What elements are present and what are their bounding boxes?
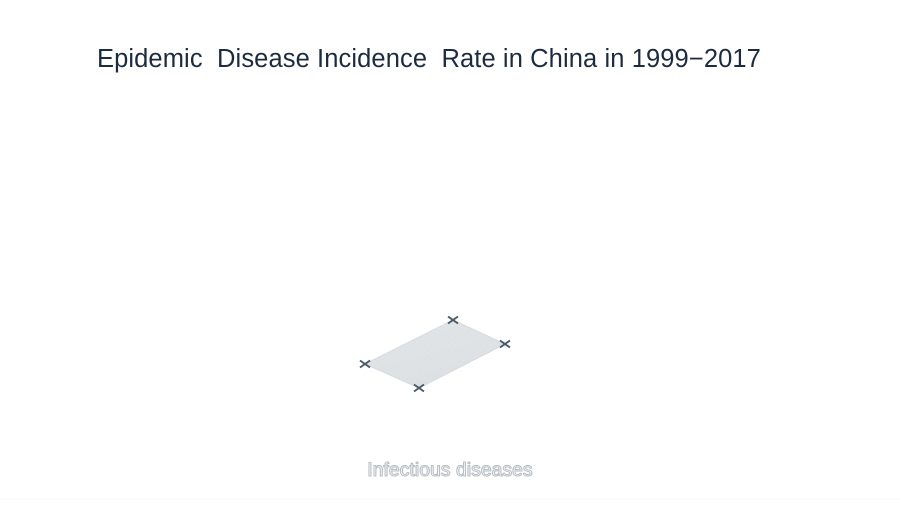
surface-patch	[365, 320, 505, 388]
surface-plot-area	[0, 0, 900, 506]
figure-canvas: Epidemic Disease Incidence Rate in China…	[0, 0, 900, 506]
bottom-hairline	[0, 499, 900, 500]
